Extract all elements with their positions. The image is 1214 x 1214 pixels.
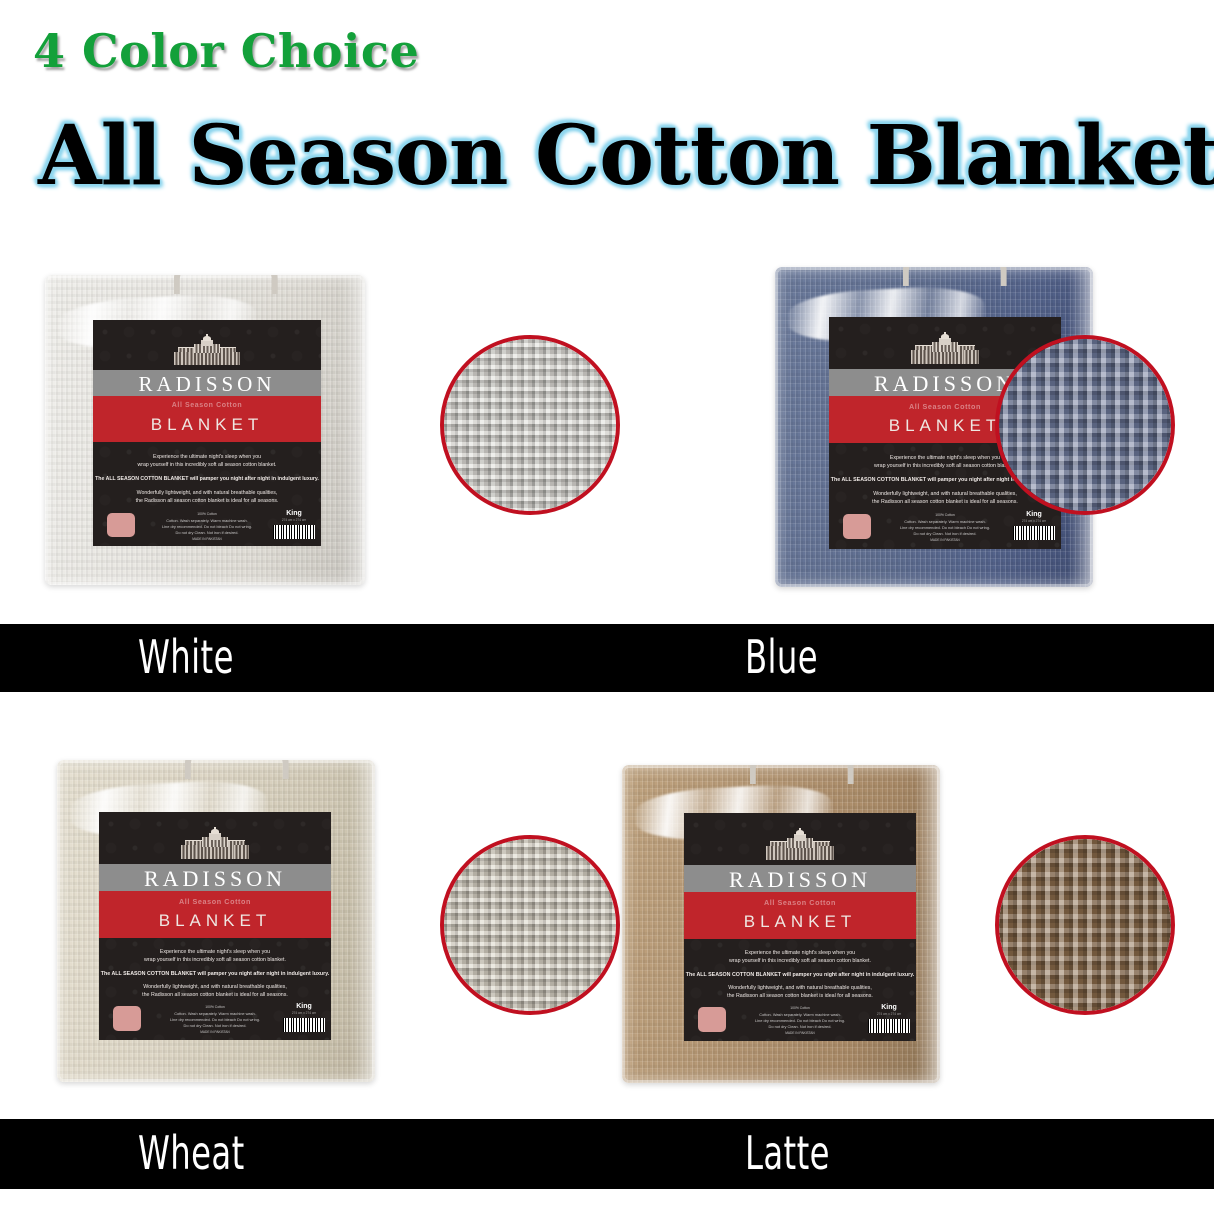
size-dimensions: 274 cm x 274 cm — [1017, 519, 1051, 523]
label-copy2-line-2: the Radisson all season cotton blanket i… — [684, 993, 916, 999]
package-wheat[interactable]: RADISSON All Season Cotton BLANKET Exper… — [57, 760, 375, 1082]
label-copy-line-1: Experience the ultimate night's sleep wh… — [684, 950, 916, 956]
package-white[interactable]: RADISSON All Season Cotton BLANKET Exper… — [45, 275, 365, 585]
size-label: King — [277, 510, 311, 517]
page-title: All Season Cotton Blanket — [38, 108, 1214, 204]
label-copy2-line-1: Wonderfully lightweight, and with natura… — [99, 984, 331, 990]
fabric-close-up-latte[interactable] — [995, 835, 1175, 1015]
radisson-building-logo — [185, 828, 245, 859]
fabric-texture — [999, 839, 1171, 1011]
brand-name: RADISSON — [684, 867, 916, 893]
carry-handle — [750, 765, 854, 784]
product-word: BLANKET — [684, 912, 916, 932]
color-name-wheat: Wheat — [138, 1126, 275, 1180]
label-copy-bold: The ALL SEASON COTTON BLANKET will pampe… — [93, 476, 321, 482]
label-copy-line-2: wrap yourself in this incredibly soft al… — [93, 462, 321, 468]
product-label: RADISSON All Season Cotton BLANKET Exper… — [684, 813, 916, 1041]
radisson-building-logo — [915, 333, 975, 364]
fabric-texture — [444, 339, 616, 511]
size-label: King — [1017, 511, 1051, 518]
fabric-close-up-white[interactable] — [440, 335, 620, 515]
product-word: BLANKET — [93, 415, 321, 435]
label-copy-bold: The ALL SEASON COTTON BLANKET will pampe… — [684, 972, 916, 978]
label-copy-line-1: Experience the ultimate night's sleep wh… — [99, 949, 331, 955]
product-cell-blue[interactable]: RADISSON All Season Cotton BLANKET Exper… — [607, 225, 1214, 623]
label-copy2-line-1: Wonderfully lightweight, and with natura… — [93, 490, 321, 496]
size-label: King — [287, 1003, 321, 1010]
size-dimensions: 274 cm x 274 cm — [872, 1012, 906, 1016]
color-name-blue: Blue — [745, 630, 839, 684]
label-copy2-line-2: the Radisson all season cotton blanket i… — [93, 498, 321, 504]
color-name-bar-bottom: Wheat Latte — [0, 1119, 1214, 1189]
color-name-latte: Latte — [745, 1126, 854, 1180]
barcode — [868, 1019, 910, 1033]
fabric-close-up-blue[interactable] — [995, 335, 1175, 515]
radisson-building-logo — [178, 335, 236, 365]
package-latte[interactable]: RADISSON All Season Cotton BLANKET Exper… — [622, 765, 940, 1083]
product-cell-latte[interactable]: RADISSON All Season Cotton BLANKET Exper… — [607, 725, 1214, 1123]
kicker-text: 4 Color Choice — [33, 24, 419, 78]
label-copy2-line-2: the Radisson all season cotton blanket i… — [99, 992, 331, 998]
color-name-bar-top: White Blue — [0, 624, 1214, 692]
radisson-building-logo — [770, 829, 830, 860]
product-label: RADISSON All Season Cotton BLANKET Exper… — [99, 812, 331, 1040]
product-cell-wheat[interactable]: RADISSON All Season Cotton BLANKET Exper… — [0, 725, 607, 1123]
carry-handle — [903, 267, 1007, 286]
headline-block: 4 Color Choice All Season Cotton Blanket — [0, 0, 1214, 225]
fabric-texture — [999, 339, 1171, 511]
product-tagline: All Season Cotton — [684, 898, 916, 907]
size-dimensions: 274 cm x 274 cm — [287, 1011, 321, 1015]
color-name-white: White — [138, 630, 261, 684]
fabric-texture — [444, 839, 616, 1011]
label-copy2-line-2: the Radisson all season cotton blanket i… — [829, 499, 1061, 505]
size-dimensions: 274 cm x 274 cm — [277, 518, 311, 522]
carry-handle — [185, 760, 289, 779]
brand-name: RADISSON — [93, 372, 321, 397]
label-copy-line-2: wrap yourself in this incredibly soft al… — [99, 957, 331, 963]
label-copy-bold: The ALL SEASON COTTON BLANKET will pampe… — [99, 971, 331, 977]
barcode — [1013, 526, 1055, 540]
product-word: BLANKET — [99, 911, 331, 931]
product-cell-white[interactable]: RADISSON All Season Cotton BLANKET Exper… — [0, 225, 607, 623]
fabric-close-up-wheat[interactable] — [440, 835, 620, 1015]
product-tagline: All Season Cotton — [93, 402, 321, 409]
barcode — [283, 1018, 325, 1032]
label-copy-line-1: Experience the ultimate night's sleep wh… — [93, 454, 321, 460]
brand-name: RADISSON — [99, 866, 331, 892]
label-copy-line-2: wrap yourself in this incredibly soft al… — [684, 958, 916, 964]
product-label: RADISSON All Season Cotton BLANKET Exper… — [93, 320, 321, 546]
product-tagline: All Season Cotton — [99, 897, 331, 906]
size-label: King — [872, 1004, 906, 1011]
label-copy2-line-1: Wonderfully lightweight, and with natura… — [684, 985, 916, 991]
carry-handle — [174, 275, 278, 294]
barcode — [273, 525, 315, 539]
